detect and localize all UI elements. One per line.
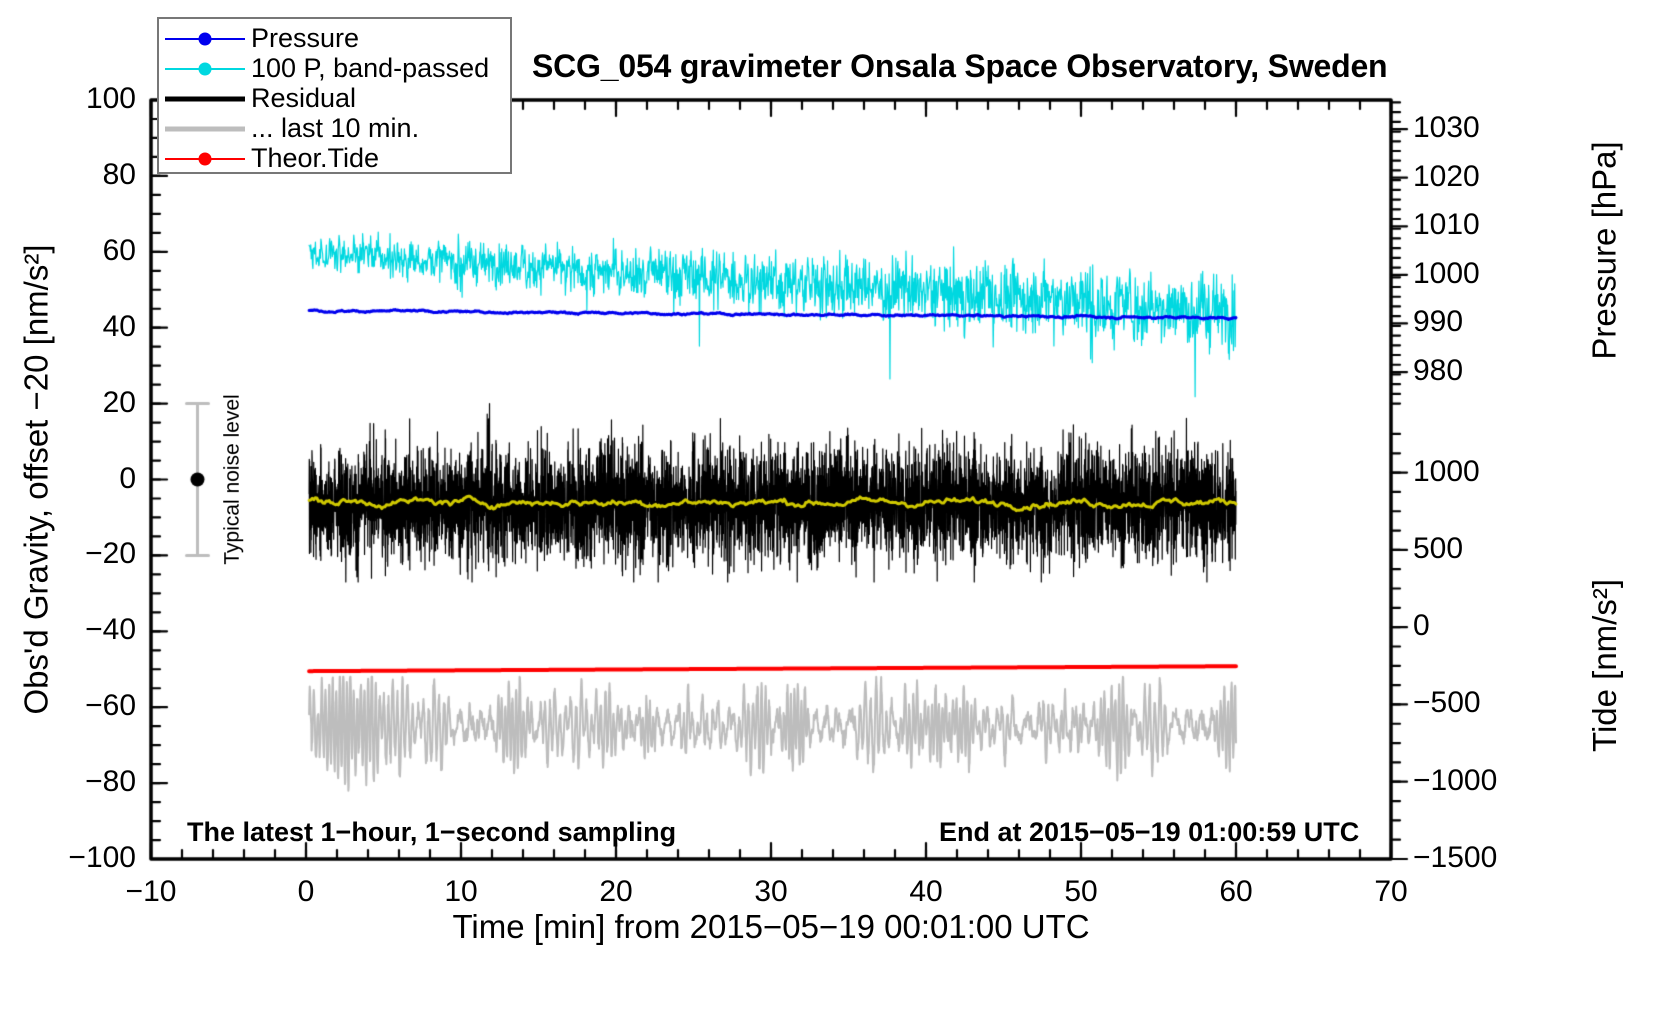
legend-label-theortide: Theor.Tide bbox=[251, 144, 379, 173]
x-tick-label: 10 bbox=[411, 877, 511, 907]
y-left-tick-label: −40 bbox=[6, 615, 136, 645]
legend-item-pressure[interactable]: Pressure bbox=[159, 24, 510, 53]
legend-label-bandpassed: 100 P, band-passed bbox=[251, 54, 489, 83]
y-left-tick-label: −80 bbox=[6, 767, 136, 797]
legend-item-theortide[interactable]: Theor.Tide bbox=[159, 144, 510, 173]
y-axis-pressure-title: Pressure [hPa] bbox=[1588, 141, 1621, 359]
y-pressure-tick-label: 1010 bbox=[1413, 210, 1533, 240]
y-tide-tick-label: −1000 bbox=[1413, 766, 1553, 796]
y-tide-tick-label: 0 bbox=[1413, 611, 1553, 641]
x-tick-label: −10 bbox=[101, 877, 201, 907]
y-left-tick-label: −60 bbox=[6, 691, 136, 721]
y-pressure-tick-label: 1030 bbox=[1413, 113, 1533, 143]
y-left-tick-label: 40 bbox=[6, 312, 136, 342]
legend-swatch-bandpassed bbox=[159, 54, 251, 83]
y-pressure-tick-label: 1020 bbox=[1413, 162, 1533, 192]
y-left-tick-label: 80 bbox=[6, 160, 136, 190]
page-title: SCG_054 gravimeter Onsala Space Observat… bbox=[532, 50, 1387, 82]
legend-item-residual[interactable]: Residual bbox=[159, 84, 510, 113]
x-tick-label: 60 bbox=[1186, 877, 1286, 907]
legend-swatch-last10min bbox=[159, 114, 251, 143]
x-tick-label: 0 bbox=[256, 877, 356, 907]
y-tide-tick-label: −500 bbox=[1413, 688, 1553, 718]
y-pressure-tick-label: 1000 bbox=[1413, 259, 1533, 289]
y-left-tick-label: 60 bbox=[6, 236, 136, 266]
y-tide-tick-label: −1500 bbox=[1413, 843, 1553, 873]
legend-swatch-pressure bbox=[159, 24, 251, 53]
annotation-noise-level: Typical noise level bbox=[222, 394, 243, 564]
legend-label-pressure: Pressure bbox=[251, 24, 359, 53]
legend-item-last10min[interactable]: ... last 10 min. bbox=[159, 114, 510, 143]
y-tide-tick-label: 500 bbox=[1413, 534, 1553, 564]
annotation-end-time: End at 2015−05−19 01:00:59 UTC bbox=[939, 819, 1359, 846]
legend-item-bandpassed[interactable]: 100 P, band-passed bbox=[159, 54, 510, 83]
x-axis-title: Time [min] from 2015−05−19 00:01:00 UTC bbox=[453, 910, 1090, 943]
y-axis-tide-title: Tide [nm/s²] bbox=[1587, 579, 1620, 752]
x-tick-label: 70 bbox=[1341, 877, 1441, 907]
legend-swatch-theortide bbox=[159, 144, 251, 173]
y-left-tick-label: −100 bbox=[6, 843, 136, 873]
x-tick-label: 40 bbox=[876, 877, 976, 907]
chart-page: SCG_054 gravimeter Onsala Space Observat… bbox=[0, 0, 1660, 1020]
y-left-tick-label: 100 bbox=[6, 84, 136, 114]
legend-label-residual: Residual bbox=[251, 84, 356, 113]
x-tick-label: 20 bbox=[566, 877, 666, 907]
legend-swatch-residual bbox=[159, 84, 251, 113]
x-tick-label: 50 bbox=[1031, 877, 1131, 907]
legend-label-last10min: ... last 10 min. bbox=[251, 114, 419, 143]
chart-legend[interactable]: Pressure 100 P, band-passed Residual ...… bbox=[157, 17, 512, 174]
x-tick-label: 30 bbox=[721, 877, 821, 907]
y-pressure-tick-label: 980 bbox=[1413, 356, 1533, 386]
y-tide-tick-label: 1000 bbox=[1413, 457, 1553, 487]
annotation-sampling-info: The latest 1−hour, 1−second sampling bbox=[187, 819, 676, 846]
y-pressure-tick-label: 990 bbox=[1413, 307, 1533, 337]
y-left-tick-label: −20 bbox=[6, 539, 136, 569]
y-left-tick-label: 20 bbox=[6, 388, 136, 418]
y-left-tick-label: 0 bbox=[6, 464, 136, 494]
